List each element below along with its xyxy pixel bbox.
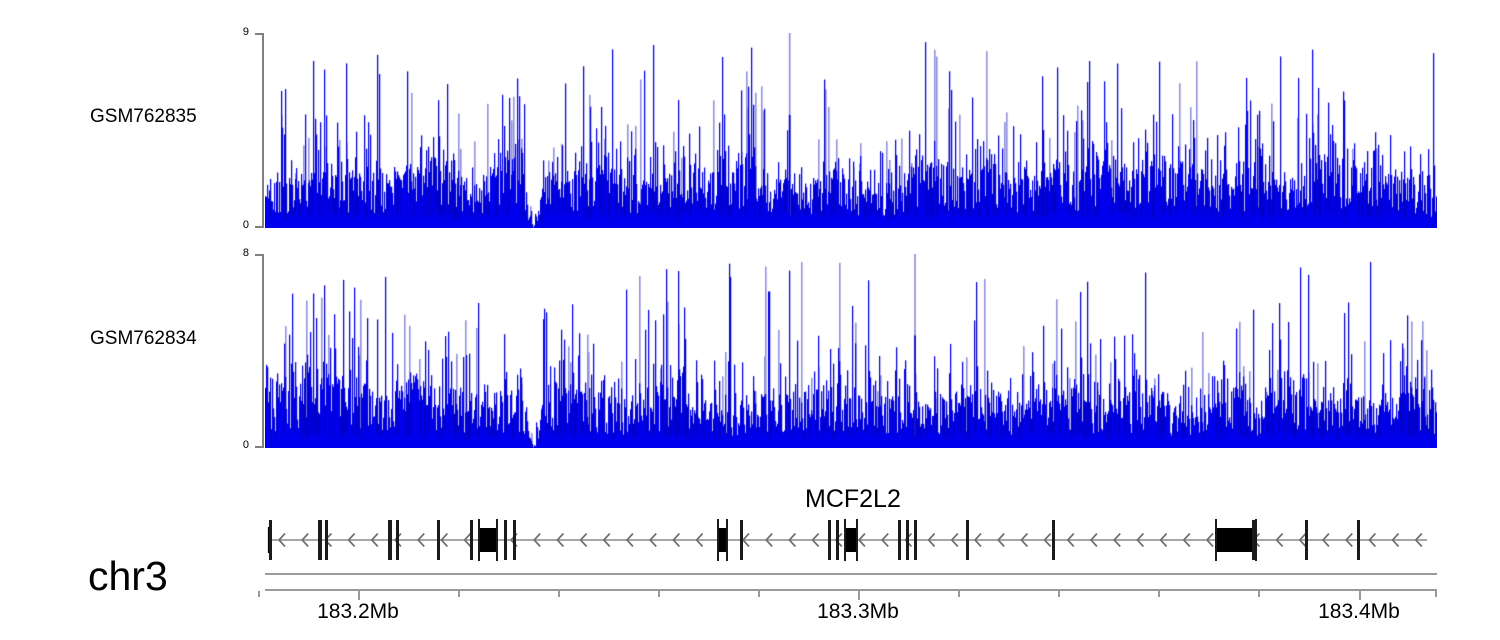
axis-tick-label-0: 183.2Mb <box>317 600 399 624</box>
y-axis-tick-gsm762834-1 <box>255 446 264 448</box>
axis-minor-tick-3 <box>658 591 660 597</box>
y-axis-tick-gsm762835-1 <box>255 226 264 228</box>
axis-minor-tick-0 <box>258 591 260 597</box>
exon-block[interactable] <box>479 528 497 552</box>
y-axis-value-gsm762835-1: 0 <box>222 219 249 231</box>
genome-browser-view: GSM76283590GSM76283480 MCF2L2 183.2Mb183… <box>0 0 1500 640</box>
exon-block[interactable] <box>718 528 727 552</box>
axis-minor-tick-1 <box>458 591 460 597</box>
axis-minor-tick-4 <box>758 591 760 597</box>
y-axis-value-gsm762835-0: 9 <box>222 26 249 38</box>
axis-minor-tick-6 <box>1058 591 1060 597</box>
coverage-plot-gsm762835[interactable] <box>265 33 1437 228</box>
y-axis-value-gsm762834-1: 0 <box>222 439 249 451</box>
coverage-histogram-canvas-gsm762835 <box>265 33 1437 228</box>
y-axis-tick-gsm762835-0 <box>255 33 264 35</box>
track-label-gsm762835: GSM762835 <box>90 106 197 128</box>
chromosome-label: chr3 <box>88 553 168 600</box>
axis-minor-tick-7 <box>1158 591 1160 597</box>
axis-minor-tick-9 <box>1435 591 1437 597</box>
axis-minor-tick-8 <box>1258 591 1260 597</box>
exon-block[interactable] <box>845 528 857 552</box>
y-axis-value-gsm762834-0: 8 <box>222 247 249 259</box>
axis-minor-tick-2 <box>558 591 560 597</box>
axis-major-tick-0 <box>358 591 360 600</box>
axis-major-tick-1 <box>858 591 860 600</box>
axis-rule-lower <box>265 589 1437 591</box>
axis-tick-label-1: 183.3Mb <box>817 600 899 624</box>
coverage-plot-gsm762834[interactable] <box>265 254 1437 448</box>
y-axis-tick-gsm762834-0 <box>255 254 264 256</box>
axis-major-tick-2 <box>1359 591 1361 600</box>
exon-block[interactable] <box>1216 528 1256 552</box>
gene-model-graphic <box>0 495 1500 565</box>
axis-rule-upper <box>265 573 1437 575</box>
coverage-histogram-canvas-gsm762834 <box>265 254 1437 448</box>
y-axis-line-gsm762835 <box>262 33 264 228</box>
y-axis-line-gsm762834 <box>262 254 264 448</box>
track-label-gsm762834: GSM762834 <box>90 328 197 350</box>
axis-minor-tick-5 <box>958 591 960 597</box>
axis-tick-label-2: 183.4Mb <box>1318 600 1400 624</box>
